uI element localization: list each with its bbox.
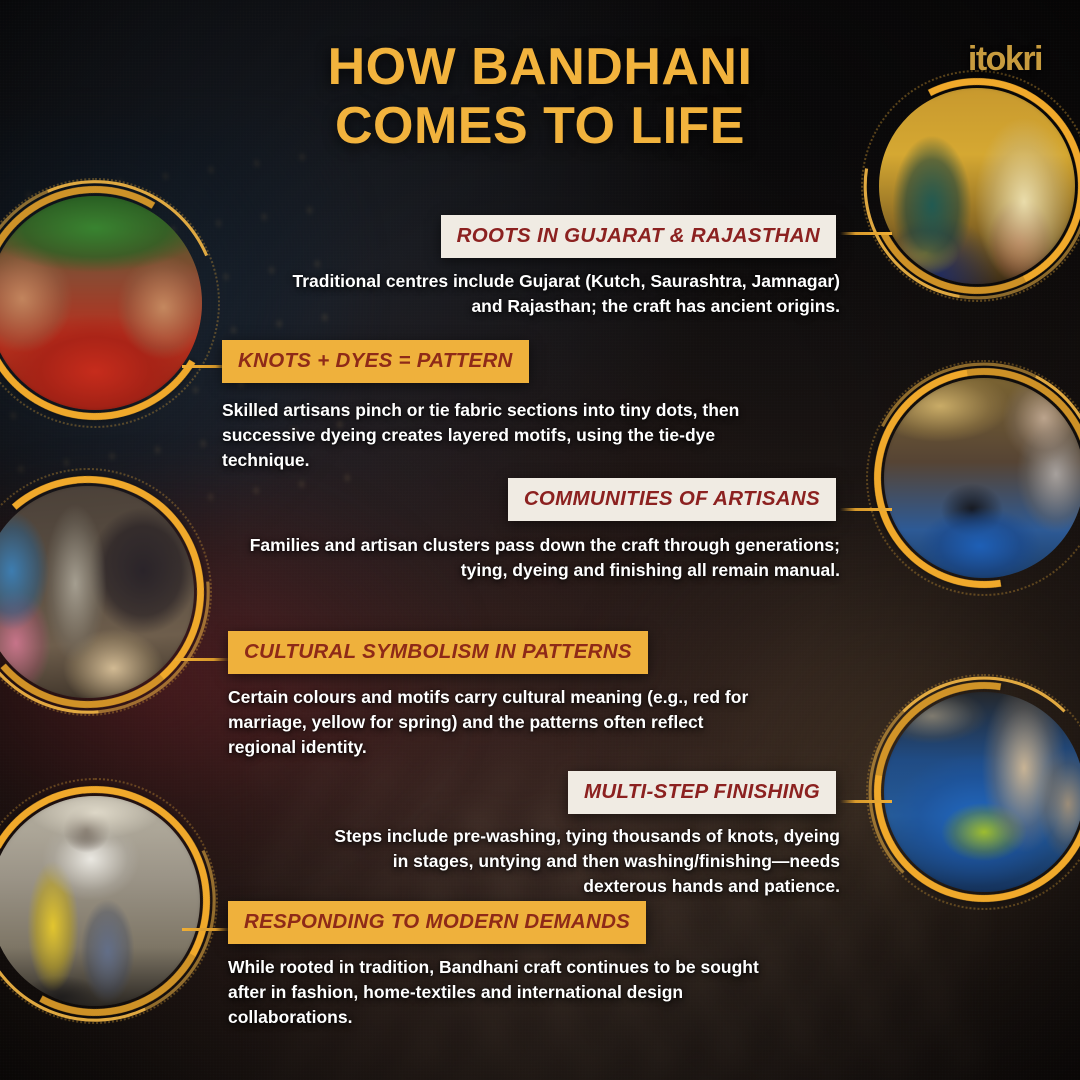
photo-hands-red-fabric <box>0 196 202 410</box>
section-body-roots: Traditional centres include Gujarat (Kut… <box>280 269 840 319</box>
photo-indigo-vat <box>884 692 1080 892</box>
connector-line-finishing <box>840 800 892 803</box>
section-body-knots-dyes: Skilled artisans pinch or tie fabric sec… <box>222 398 752 473</box>
page-title-line-1: HOW BANDHANI <box>0 38 1080 97</box>
brand-logo[interactable]: itokri <box>968 40 1042 79</box>
page-title-line-2: COMES TO LIFE <box>0 97 1080 156</box>
section-label-symbolism[interactable]: CULTURAL SYMBOLISM IN PATTERNS <box>228 631 648 674</box>
section-label-knots-dyes[interactable]: KNOTS + DYES = PATTERN <box>222 340 529 383</box>
photo-yellow-fabric <box>0 796 200 1006</box>
section-label-communities[interactable]: COMMUNITIES OF ARTISANS <box>508 478 836 521</box>
photo-dyer-blue-tub <box>884 378 1080 578</box>
section-label-roots[interactable]: ROOTS IN GUJARAT & RAJASTHAN <box>441 215 836 258</box>
section-body-finishing: Steps include pre-washing, tying thousan… <box>320 824 840 899</box>
connector-line-communities <box>840 508 892 511</box>
photo-women-knotting <box>0 486 194 698</box>
section-body-modern: While rooted in tradition, Bandhani craf… <box>228 955 784 1030</box>
connector-line-symbolism <box>175 658 230 661</box>
connector-line-modern <box>182 928 230 931</box>
section-body-symbolism: Certain colours and motifs carry cultura… <box>228 685 768 760</box>
page-title: HOW BANDHANI COMES TO LIFE <box>0 38 1080 157</box>
section-label-modern[interactable]: RESPONDING TO MODERN DEMANDS <box>228 901 646 944</box>
connector-line-roots <box>840 232 892 235</box>
infographic-canvas: HOW BANDHANI COMES TO LIFE itokri ROOTS … <box>0 0 1080 1080</box>
section-label-finishing[interactable]: MULTI-STEP FINISHING <box>568 771 836 814</box>
section-body-communities: Families and artisan clusters pass down … <box>240 533 840 583</box>
